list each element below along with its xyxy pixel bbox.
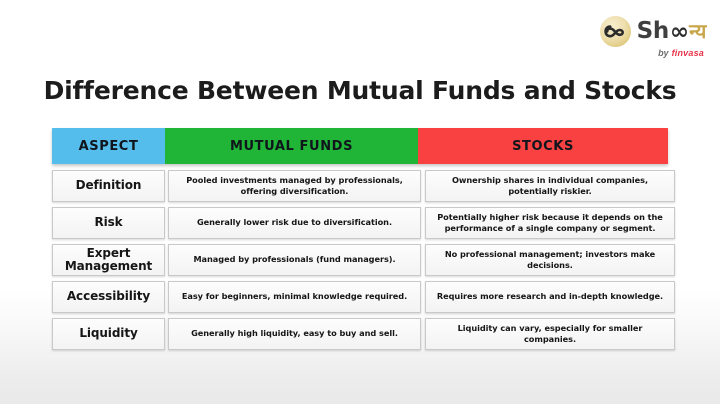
- table-header-stocks: STOCKS: [418, 128, 668, 164]
- comparison-table: ASPECT MUTUAL FUNDS STOCKS Definition Po…: [52, 128, 668, 355]
- cell-aspect: Definition: [52, 170, 165, 202]
- cell-aspect: Expert Management: [52, 244, 165, 276]
- logo-wordmark: Sh∞न्य: [637, 20, 706, 43]
- logo-wordmark-row: Sh∞न्य: [600, 14, 706, 48]
- cell-aspect: Risk: [52, 207, 165, 239]
- slide-canvas: Sh∞न्य by finvasa Difference Between Mut…: [0, 0, 720, 404]
- cell-aspect: Liquidity: [52, 318, 165, 350]
- logo-tagline-by: by: [658, 49, 669, 58]
- logo-word-sh: Sh: [637, 20, 669, 43]
- logo-word-devanagari: न्य: [689, 21, 706, 41]
- logo-tagline-brand: finvasa: [672, 49, 704, 58]
- table-header-aspect: ASPECT: [52, 128, 165, 164]
- cell-stocks: Liquidity can vary, especially for small…: [425, 318, 675, 350]
- table-row: Expert Management Managed by professiona…: [52, 244, 668, 276]
- cell-aspect: Accessibility: [52, 281, 165, 313]
- page-title: Difference Between Mutual Funds and Stoc…: [0, 76, 720, 105]
- table-header-mutual-funds: MUTUAL FUNDS: [165, 128, 418, 164]
- cell-mutual-funds: Pooled investments managed by profession…: [168, 170, 421, 202]
- logo-tagline: by finvasa: [658, 49, 704, 58]
- cell-stocks: No professional management; investors ma…: [425, 244, 675, 276]
- table-row: Liquidity Generally high liquidity, easy…: [52, 318, 668, 350]
- table-header-row: ASPECT MUTUAL FUNDS STOCKS: [52, 128, 668, 164]
- shoonya-logo: Sh∞न्य by finvasa: [554, 14, 706, 64]
- cell-stocks: Potentially higher risk because it depen…: [425, 207, 675, 239]
- cell-stocks: Ownership shares in individual companies…: [425, 170, 675, 202]
- cell-mutual-funds: Generally lower risk due to diversificat…: [168, 207, 421, 239]
- infinity-icon: [600, 16, 631, 47]
- table-body: Definition Pooled investments managed by…: [52, 170, 668, 350]
- cell-mutual-funds: Generally high liquidity, easy to buy an…: [168, 318, 421, 350]
- logo-word-infinity: ∞: [670, 21, 688, 44]
- cell-mutual-funds: Managed by professionals (fund managers)…: [168, 244, 421, 276]
- table-row: Accessibility Easy for beginners, minima…: [52, 281, 668, 313]
- table-row: Definition Pooled investments managed by…: [52, 170, 668, 202]
- cell-stocks: Requires more research and in-depth know…: [425, 281, 675, 313]
- cell-mutual-funds: Easy for beginners, minimal knowledge re…: [168, 281, 421, 313]
- table-row: Risk Generally lower risk due to diversi…: [52, 207, 668, 239]
